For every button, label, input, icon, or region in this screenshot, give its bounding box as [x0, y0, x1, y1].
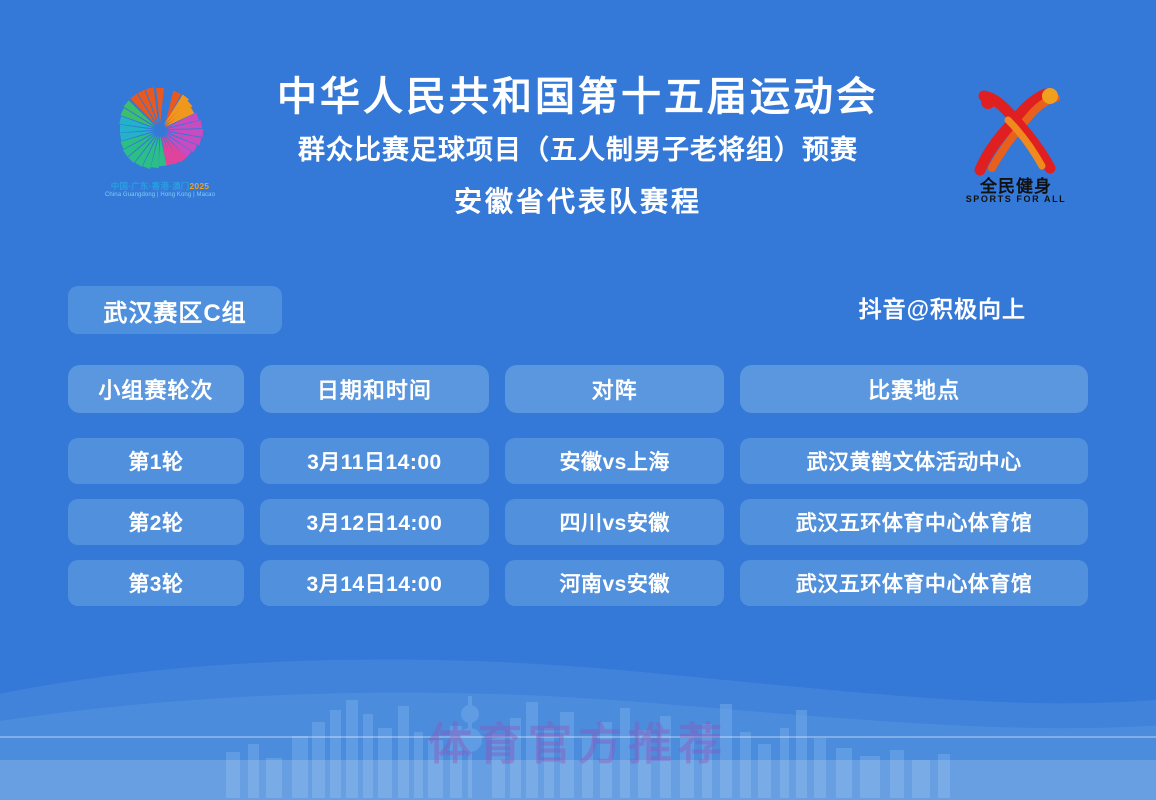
watermark-text: 体育官方推荐: [0, 708, 1156, 772]
page-title: 中华人民共和国第十五届运动会: [220, 72, 936, 122]
cell-round: 第1轮: [68, 438, 244, 484]
column-header-matchup: 对阵: [505, 365, 724, 413]
table-header-row: 小组赛轮次 日期和时间 对阵 比赛地点: [68, 365, 1088, 413]
douyin-credit: 抖音@积极向上: [859, 290, 1026, 324]
table-row: 第1轮 3月11日14:00 安徽vs上海 武汉黄鹤文体活动中心: [68, 438, 1088, 484]
sports-for-all-logo: 全民健身 SPORTS FOR ALL: [956, 80, 1076, 215]
horizon-line: [0, 736, 1156, 738]
cell-venue: 武汉黄鹤文体活动中心: [740, 438, 1088, 484]
cell-venue: 武汉五环体育中心体育馆: [740, 499, 1088, 545]
column-header-round: 小组赛轮次: [68, 365, 244, 413]
cell-matchup: 河南vs安徽: [505, 560, 724, 606]
page-subtitle: 群众比赛足球项目（五人制男子老将组）预赛: [220, 132, 936, 170]
poster-header: 中国·广东·香港·澳门2025 China Guangdong | Hong K…: [0, 72, 1156, 262]
running-figures-icon: [962, 80, 1070, 178]
group-badge[interactable]: 武汉赛区C组: [68, 286, 282, 334]
cell-matchup: 四川vs安徽: [505, 499, 724, 545]
title-block: 中华人民共和国第十五届运动会 群众比赛足球项目（五人制男子老将组）预赛 安徽省代…: [220, 72, 936, 221]
national-games-logo: 中国·广东·香港·澳门2025 China Guangdong | Hong K…: [100, 82, 220, 212]
schedule-table: 小组赛轮次 日期和时间 对阵 比赛地点 第1轮 3月11日14:00 安徽vs上…: [68, 365, 1088, 621]
column-header-venue: 比赛地点: [740, 365, 1088, 413]
cell-datetime: 3月14日14:00: [260, 560, 489, 606]
table-row: 第3轮 3月14日14:00 河南vs安徽 武汉五环体育中心体育馆: [68, 560, 1088, 606]
bottom-decoration: 体育官方推荐: [0, 640, 1156, 800]
city-skyline-silhouette: [0, 640, 1156, 800]
cell-round: 第3轮: [68, 560, 244, 606]
team-title: 安徽省代表队赛程: [220, 182, 936, 221]
wave-shape: [0, 640, 1156, 800]
emblem-en-text: China Guangdong | Hong Kong | Macao: [100, 192, 220, 198]
sfa-en-text: SPORTS FOR ALL: [956, 194, 1076, 204]
poster-root: 体育官方推荐: [0, 0, 1156, 800]
cell-matchup: 安徽vs上海: [505, 438, 724, 484]
cell-venue: 武汉五环体育中心体育馆: [740, 560, 1088, 606]
table-row: 第2轮 3月12日14:00 四川vs安徽 武汉五环体育中心体育馆: [68, 499, 1088, 545]
cell-datetime: 3月11日14:00: [260, 438, 489, 484]
column-header-datetime: 日期和时间: [260, 365, 489, 413]
cell-round: 第2轮: [68, 499, 244, 545]
firework-burst-icon: [100, 82, 220, 184]
cell-datetime: 3月12日14:00: [260, 499, 489, 545]
emblem-cn-text: 中国·广东·香港·澳门2025: [100, 180, 220, 192]
badge-row: 武汉赛区C组 抖音@积极向上: [0, 286, 1156, 334]
